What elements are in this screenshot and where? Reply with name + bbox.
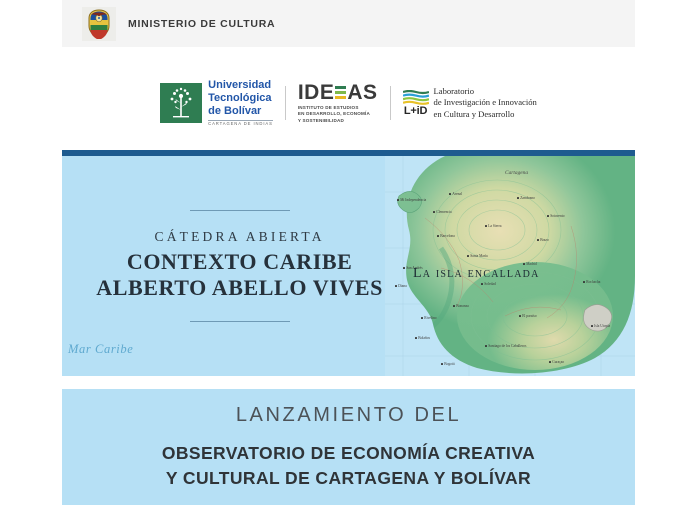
map-label-barcelona: Barcelona xyxy=(437,234,455,238)
logo-laboratorio-lid: L+iD Laboratorio de Investigación e Inno… xyxy=(403,86,537,120)
ideeas-sub-line-2: EN DESARROLLO, ECONOMÍA xyxy=(298,111,378,118)
title-rule-bottom xyxy=(190,321,290,323)
logo-ideeas: IDE AS INSTITUTO DE ESTUDIOS EN DESARROL… xyxy=(298,82,378,125)
map-label-santa-maria: Santa María xyxy=(467,254,488,258)
map-label-la-sierra: La Sierra xyxy=(485,224,501,228)
utb-line-3: de Bolívar xyxy=(208,105,273,118)
map-label-rochacha: Rochacha xyxy=(583,280,600,284)
poster-bottom-block: LANZAMIENTO DEL OBSERVATORIO DE ECONOMÍA… xyxy=(62,389,635,505)
ideeas-wordmark-a: IDE xyxy=(298,82,335,103)
poster-eyebrow: CÁTEDRA ABIERTA xyxy=(155,229,325,245)
observatory-title-line-2: Y CULTURAL DE CARTAGENA Y BOLÍVAR xyxy=(166,466,531,491)
logo-divider-2 xyxy=(390,86,391,120)
map-label-isla-utopia: Isla Utopía xyxy=(591,324,610,328)
ministry-header-band: MINISTERIO DE CULTURA xyxy=(62,0,635,47)
launch-kicker: LANZAMIENTO DEL xyxy=(236,404,461,427)
colombia-coat-of-arms-icon xyxy=(82,7,116,41)
utb-line-1: Universidad xyxy=(208,79,273,92)
observatory-title-line-1: OBSERVATORIO DE ECONOMÍA CREATIVA xyxy=(162,441,535,466)
poster-title-line-2: ALBERTO ABELLO VIVES xyxy=(96,275,383,301)
poster-section-gap xyxy=(62,376,635,389)
equals-bars-icon xyxy=(335,86,346,99)
map-label-brazo: Brazo xyxy=(537,238,549,242)
map-label-el-paraiso: El paraíso xyxy=(519,314,537,318)
map-label-sotavento: Sotavento xyxy=(547,214,565,218)
map-label-zambrano: Zambrano xyxy=(517,196,535,200)
poster-title-line-1: CONTEXTO CARIBE xyxy=(127,249,353,275)
map-label-soledad: Soledad xyxy=(481,282,496,286)
poster-title-block: CÁTEDRA ABIERTA CONTEXTO CARIBE ALBERTO … xyxy=(62,156,417,376)
partner-logo-row: Universidad Tecnológica de Bolívar CARTA… xyxy=(62,72,635,134)
map-label-arenal: Arenal xyxy=(449,192,462,196)
ideeas-sub-line-3: Y SOSTENIBILIDAD xyxy=(298,118,378,125)
lab-line-2: de Investigación e Innovación xyxy=(434,97,537,108)
map-label-santiago-caballeros: Santiago de los Caballeros xyxy=(485,344,526,348)
title-rule-top xyxy=(190,210,290,212)
logo-universidad-tecnologica-bolivar: Universidad Tecnológica de Bolívar CARTA… xyxy=(160,79,273,127)
lab-line-3: en Cultura y Desarrollo xyxy=(434,109,537,120)
map-label-curacao: Curaçao xyxy=(549,360,564,364)
utb-tagline: CARTAGENA DE INDIAS xyxy=(208,120,273,127)
utb-tree-icon xyxy=(160,83,202,123)
map-label-rivelino: Rivelino xyxy=(421,316,437,320)
poster-hero: Cartagena Mi Independencia Arenal Clemen… xyxy=(62,156,635,376)
map-label-clemencia: Clemencia xyxy=(433,210,452,214)
ministry-label: MINISTERIO DE CULTURA xyxy=(128,18,275,30)
lab-line-1: Laboratorio xyxy=(434,86,537,97)
event-poster: Cartagena Mi Independencia Arenal Clemen… xyxy=(62,150,635,505)
wavy-stripes-icon xyxy=(403,90,429,105)
utb-line-2: Tecnológica xyxy=(208,92,273,105)
map-label-cartagena: Cartagena xyxy=(505,170,528,176)
ideeas-wordmark-b: AS xyxy=(347,82,377,103)
lab-lid-wordmark: L+iD xyxy=(404,105,427,117)
map-illustration: Cartagena Mi Independencia Arenal Clemen… xyxy=(385,156,635,376)
map-label-bogota: Bogotá xyxy=(441,362,455,366)
logo-divider-1 xyxy=(285,86,286,120)
map-title: La isla encallada xyxy=(413,266,540,282)
map-label-bonanza: Bonanza xyxy=(453,304,469,308)
